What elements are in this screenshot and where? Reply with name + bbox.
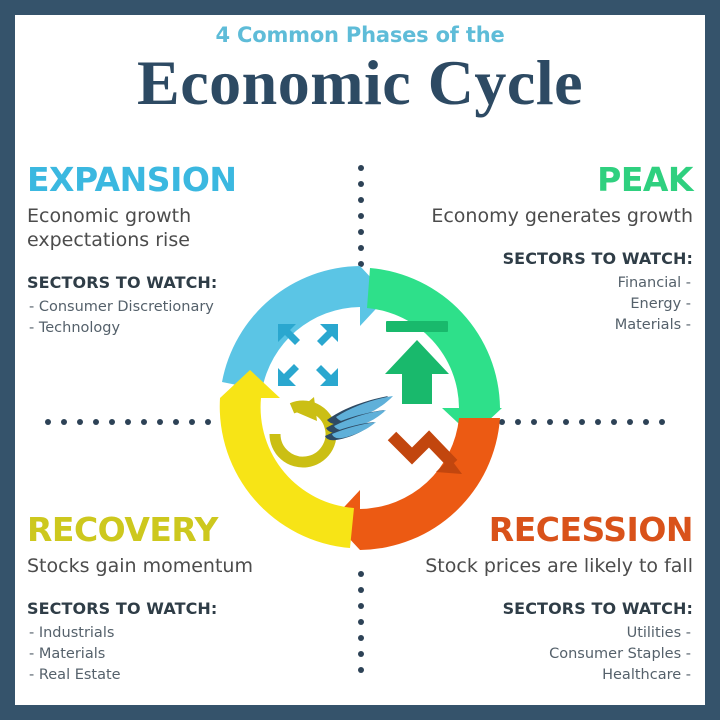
phase-title-expansion: EXPANSION — [27, 163, 327, 196]
phase-description-recovery: Stocks gain momentum — [27, 555, 327, 579]
declining-arrow-icon — [392, 436, 453, 464]
economic-cycle-wheel — [210, 258, 510, 558]
header: 4 Common Phases of the Economic Cycle — [15, 23, 705, 116]
dotted-divider-bottom — [358, 571, 364, 683]
list-item: - Real Estate — [27, 665, 327, 686]
phase-title-peak: PEAK — [393, 163, 693, 196]
sectors-heading-recovery: SECTORS TO WATCH: — [27, 599, 327, 618]
page-title: Economic Cycle — [15, 49, 705, 116]
phase-description-expansion: Economic growth expectations rise — [27, 205, 327, 253]
sector-list-recovery: - Industrials - Materials - Real Estate — [27, 623, 327, 686]
expand-arrows-icon — [278, 324, 338, 386]
sector-list-recession: Utilities - Consumer Staples - Healthcar… — [393, 623, 693, 686]
header-eyebrow: 4 Common Phases of the — [15, 23, 705, 47]
list-item: - Materials — [27, 644, 327, 665]
sectors-heading-recession: SECTORS TO WATCH: — [393, 599, 693, 618]
phase-description-recession: Stock prices are likely to fall — [393, 555, 693, 579]
phase-description-expansion-line1: Economic growth — [27, 205, 327, 229]
infographic-canvas: 4 Common Phases of the Economic Cycle EX… — [15, 15, 705, 705]
phase-description-peak: Economy generates growth — [393, 205, 693, 229]
list-item: Consumer Staples - — [393, 644, 693, 665]
list-item: Utilities - — [393, 623, 693, 644]
list-item: Healthcare - — [393, 665, 693, 686]
phase-description-expansion-line2: expectations rise — [27, 229, 327, 253]
list-item: - Industrials — [27, 623, 327, 644]
infographic-frame: 4 Common Phases of the Economic Cycle EX… — [0, 0, 720, 720]
